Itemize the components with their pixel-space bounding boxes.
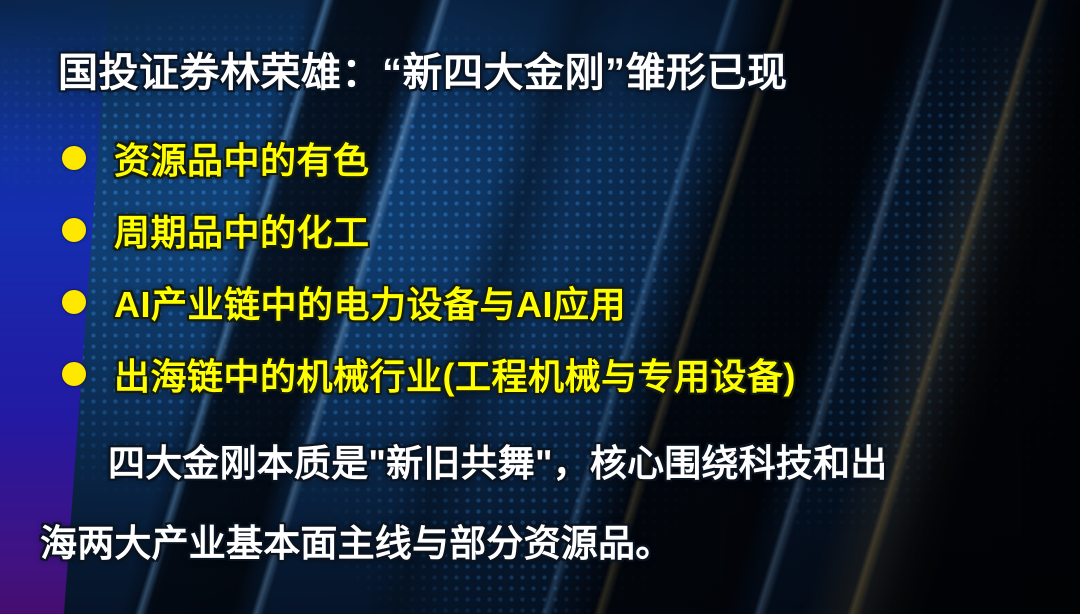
bullet-item-3: AI产业链中的电力设备与AI应用 bbox=[62, 266, 1042, 338]
bullet-item-label: AI产业链中的电力设备与AI应用 bbox=[114, 276, 626, 328]
bullet-item-label: 出海链中的机械行业(工程机械与专用设备) bbox=[114, 348, 796, 400]
slide-title: 国投证券林荣雄：“新四大金刚”雏形已现 bbox=[58, 40, 788, 98]
bullet-list: 资源品中的有色 周期品中的化工 AI产业链中的电力设备与AI应用 出海链中的机械… bbox=[62, 122, 1042, 410]
summary-paragraph-line-2: 海两大产业基本面主线与部分资源品。 bbox=[40, 504, 1050, 584]
summary-paragraph: 四大金刚本质是"新旧共舞"，核心围绕科技和出 海两大产业基本面主线与部分资源品。 bbox=[40, 424, 1050, 584]
bullet-dot-icon bbox=[62, 146, 86, 170]
slide-content: 国投证券林荣雄：“新四大金刚”雏形已现 资源品中的有色 周期品中的化工 AI产业… bbox=[0, 0, 1080, 614]
bullet-item-1: 资源品中的有色 bbox=[62, 122, 1042, 194]
bullet-item-label: 资源品中的有色 bbox=[114, 132, 370, 184]
bullet-item-4: 出海链中的机械行业(工程机械与专用设备) bbox=[62, 338, 1042, 410]
bullet-dot-icon bbox=[62, 362, 86, 386]
slide-canvas: 国投证券林荣雄：“新四大金刚”雏形已现 资源品中的有色 周期品中的化工 AI产业… bbox=[0, 0, 1080, 614]
summary-paragraph-line-1: 四大金刚本质是"新旧共舞"，核心围绕科技和出 bbox=[40, 424, 1050, 504]
bullet-dot-icon bbox=[62, 290, 86, 314]
bullet-item-label: 周期品中的化工 bbox=[114, 204, 370, 256]
bullet-item-2: 周期品中的化工 bbox=[62, 194, 1042, 266]
bullet-dot-icon bbox=[62, 218, 86, 242]
